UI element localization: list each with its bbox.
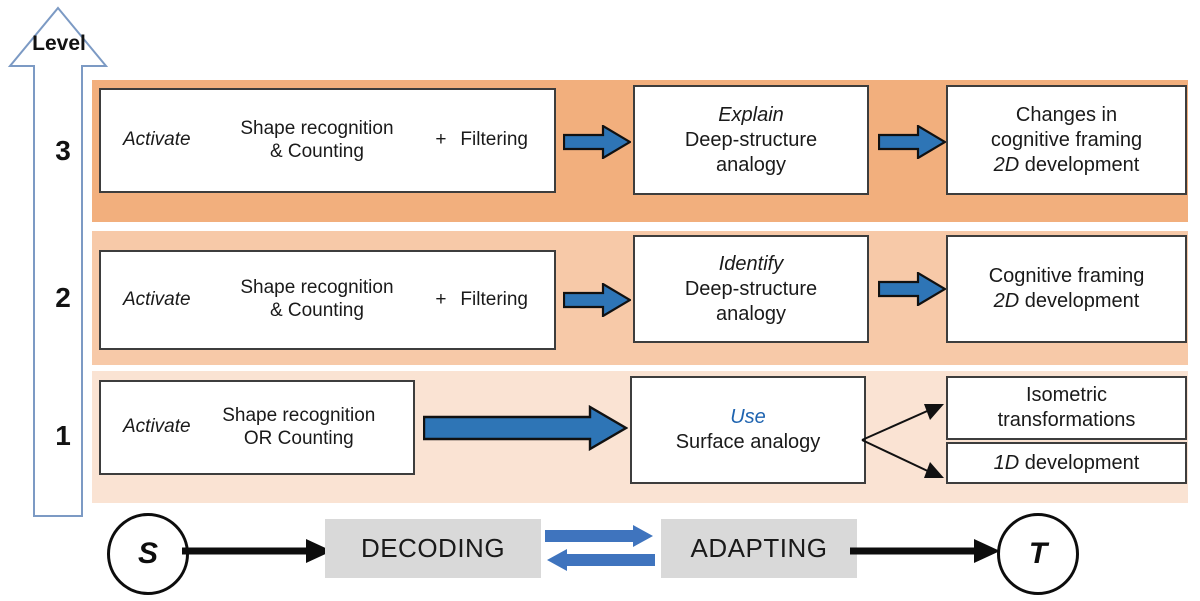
outcome-line2-rest-level-2: development	[1019, 290, 1139, 312]
middle-text-level-1: Use Surface analogy	[676, 405, 821, 455]
plus-sign-level-2: +	[435, 289, 460, 310]
activate-skill-line2-level-1: OR Counting	[244, 428, 354, 449]
outcome-box-level-2[interactable]: Cognitive framing 2D development	[946, 235, 1187, 343]
arrow-activate-to-middle-level-1-icon	[423, 405, 628, 451]
activate-box-level-1[interactable]: Activate Shape recognition OR Counting	[99, 380, 415, 475]
activate-box-level-2[interactable]: Activate Shape recognition & Counting +F…	[99, 250, 556, 350]
middle-line1-level-3: Deep-structure	[685, 129, 817, 151]
outcome-line2-level-1-isometric: transformations	[998, 409, 1136, 431]
stage-decoding-box[interactable]: DECODING	[325, 519, 541, 578]
middle-verb-level-1: Use	[676, 405, 821, 430]
middle-line2-level-3: analogy	[716, 154, 786, 176]
activate-plus-level-2: +Filtering	[435, 289, 554, 311]
activate-plus-level-3: +Filtering	[435, 129, 554, 151]
outcome-box-level-1-isometric[interactable]: Isometric transformations	[946, 376, 1187, 440]
diagram-canvas: Level 3 2 1 Activate Shape recognition &…	[0, 0, 1200, 601]
arrow-source-to-decoding-icon	[182, 538, 334, 564]
source-node-circle[interactable]: S	[107, 513, 189, 595]
activate-skill-level-3: Shape recognition & Counting	[191, 118, 436, 164]
level-axis-label: Level	[24, 32, 94, 56]
outcome-line2-emphasis-level-2: 2D	[994, 290, 1020, 312]
outcome-line1-level-1-isometric: Isometric	[1026, 384, 1107, 406]
outcome-text-level-3: Changes in cognitive framing 2D developm…	[991, 103, 1142, 178]
stage-adapting-box[interactable]: ADAPTING	[661, 519, 857, 578]
activate-skill-line2-level-3: & Counting	[270, 141, 364, 162]
outcome-line1-level-2: Cognitive framing	[989, 265, 1145, 287]
middle-line2-level-2: analogy	[716, 303, 786, 325]
plus-sign-level-3: +	[435, 129, 460, 150]
outcome-text-level-1-development: 1D development	[994, 451, 1140, 476]
middle-box-level-2[interactable]: Identify Deep-structure analogy	[633, 235, 869, 343]
bidirectional-arrow-icon	[545, 525, 655, 573]
arrow-middle-to-outcome-level-3-icon	[878, 125, 946, 159]
outcome-line2-level-3: cognitive framing	[991, 129, 1142, 151]
outcome-text-level-2: Cognitive framing 2D development	[989, 264, 1145, 314]
activate-skill-line1-level-3: Shape recognition	[240, 118, 393, 139]
middle-box-level-1[interactable]: Use Surface analogy	[630, 376, 866, 484]
activate-box-level-3[interactable]: Activate Shape recognition & Counting +F…	[99, 88, 556, 193]
middle-line1-level-2: Deep-structure	[685, 278, 817, 300]
fork-arrows-level-1-icon	[860, 390, 955, 490]
outcome-box-level-1-development[interactable]: 1D development	[946, 442, 1187, 484]
outcome-text-level-1-isometric: Isometric transformations	[998, 383, 1136, 433]
level-number-1: 1	[46, 420, 80, 452]
outcome-line3-rest-level-3: development	[1019, 154, 1139, 176]
activate-verb-level-3: Activate	[101, 129, 191, 151]
middle-box-level-3[interactable]: Explain Deep-structure analogy	[633, 85, 869, 195]
outcome-rest-level-1-development: development	[1019, 452, 1139, 474]
activate-skill-line2-level-2: & Counting	[270, 300, 364, 321]
arrow-activate-to-middle-level-2-icon	[563, 283, 631, 317]
activate-verb-level-2: Activate	[101, 289, 191, 311]
arrow-activate-to-middle-level-3-icon	[563, 125, 631, 159]
middle-text-level-2: Identify Deep-structure analogy	[685, 252, 817, 327]
outcome-line3-emphasis-level-3: 2D	[994, 154, 1020, 176]
plus-label-level-3: Filtering	[460, 129, 528, 150]
activate-skill-level-2: Shape recognition & Counting	[191, 277, 436, 323]
arrow-adapting-to-target-icon	[850, 538, 1002, 564]
level-number-2: 2	[46, 282, 80, 314]
activate-skill-level-1: Shape recognition OR Counting	[191, 405, 413, 451]
activate-verb-level-1: Activate	[101, 416, 191, 438]
middle-verb-level-3: Explain	[685, 103, 817, 128]
middle-line1-level-1: Surface analogy	[676, 431, 821, 453]
plus-label-level-2: Filtering	[460, 289, 528, 310]
target-node-circle[interactable]: T	[997, 513, 1079, 595]
arrow-middle-to-outcome-level-2-icon	[878, 272, 946, 306]
outcome-box-level-3[interactable]: Changes in cognitive framing 2D developm…	[946, 85, 1187, 195]
outcome-emphasis-level-1-development: 1D	[994, 452, 1020, 474]
activate-skill-line1-level-2: Shape recognition	[240, 277, 393, 298]
middle-verb-level-2: Identify	[685, 252, 817, 277]
middle-text-level-3: Explain Deep-structure analogy	[685, 103, 817, 178]
level-number-3: 3	[46, 135, 80, 167]
activate-skill-line1-level-1: Shape recognition	[222, 405, 375, 426]
outcome-line1-level-3: Changes in	[1016, 104, 1117, 126]
